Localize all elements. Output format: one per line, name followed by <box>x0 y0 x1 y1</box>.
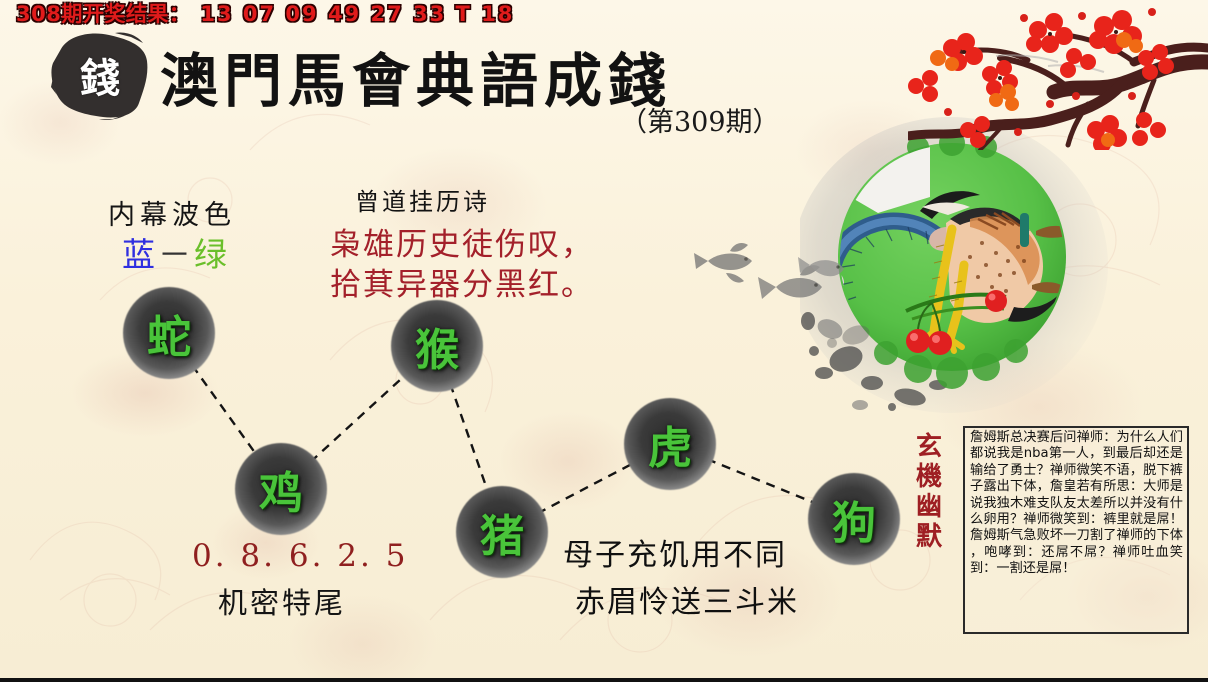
zodiac-label: 猪 <box>480 500 524 564</box>
joke-text: 詹姆斯总决赛后问禅师：为什么人们都说我是nba第一人，到最后却还是输给了勇士？禅… <box>970 430 1183 578</box>
wave-color-label: 内幕波色 <box>108 193 236 232</box>
vertical-label-char-1: 機 <box>912 462 946 492</box>
wave-color-green: 绿 <box>194 235 227 274</box>
secret-tail-numbers: 0. 8. 6. 2. 5 <box>192 538 408 574</box>
zodiac-label: 虎 <box>648 412 692 476</box>
zodiac-node-1[interactable]: 猴 <box>391 300 483 392</box>
zodiac-node-2[interactable]: 鸡 <box>235 443 327 535</box>
zodiac-label: 鸡 <box>259 457 303 521</box>
wave-color-blue: 蓝 <box>122 235 155 274</box>
zodiac-node-3[interactable]: 虎 <box>624 398 716 490</box>
zodiac-edge-3 <box>537 463 634 514</box>
middle-line-2: 赤眉怜送三斗米 <box>575 577 799 621</box>
vertical-section-label: 玄機幽默 <box>912 432 946 553</box>
zodiac-label: 猴 <box>415 314 459 378</box>
zodiac-edge-2 <box>450 384 489 494</box>
poem-line-2: 拾萁异器分黑红。 <box>330 259 594 304</box>
vertical-label-char-3: 默 <box>912 522 946 552</box>
zodiac-edge-4 <box>707 459 817 504</box>
poem-title: 曾道挂历诗 <box>355 182 490 217</box>
draw-result-numbers: 13 07 09 49 27 33 T 18 <box>200 2 514 26</box>
seal-character: 錢 <box>47 29 153 121</box>
zodiac-node-5[interactable]: 狗 <box>808 473 900 565</box>
zodiac-node-4[interactable]: 猪 <box>456 486 548 578</box>
zodiac-label: 蛇 <box>147 301 191 365</box>
vertical-label-char-0: 玄 <box>912 432 946 462</box>
secret-tail-label: 机密特尾 <box>218 580 346 622</box>
zodiac-node-0[interactable]: 蛇 <box>123 287 215 379</box>
middle-line-1: 母子充饥用不同 <box>563 530 787 574</box>
issue-number: （第309期） <box>620 100 780 139</box>
ink-seal-logo: 錢 <box>47 29 153 121</box>
page-title: 澳門馬會典語成錢 <box>160 34 672 118</box>
lottery-poster: 308期开奖结果：13 07 09 49 27 33 T 18 <box>0 0 1208 682</box>
draw-result-prefix: 308期开奖结果： <box>16 2 190 26</box>
vertical-label-char-2: 幽 <box>912 492 946 522</box>
wave-color-separator: － <box>155 235 194 274</box>
poem-line-1: 枭雄历史徒伤叹， <box>330 219 594 264</box>
draw-result-banner: 308期开奖结果：13 07 09 49 27 33 T 18 <box>16 0 514 28</box>
zodiac-label: 狗 <box>832 487 876 551</box>
wave-color-values: 蓝－绿 <box>122 228 227 276</box>
joke-text-box: 詹姆斯总决赛后问禅师：为什么人们都说我是nba第一人，到最后却还是输给了勇士？禅… <box>963 426 1189 634</box>
ink-fish-decoration <box>690 215 890 355</box>
